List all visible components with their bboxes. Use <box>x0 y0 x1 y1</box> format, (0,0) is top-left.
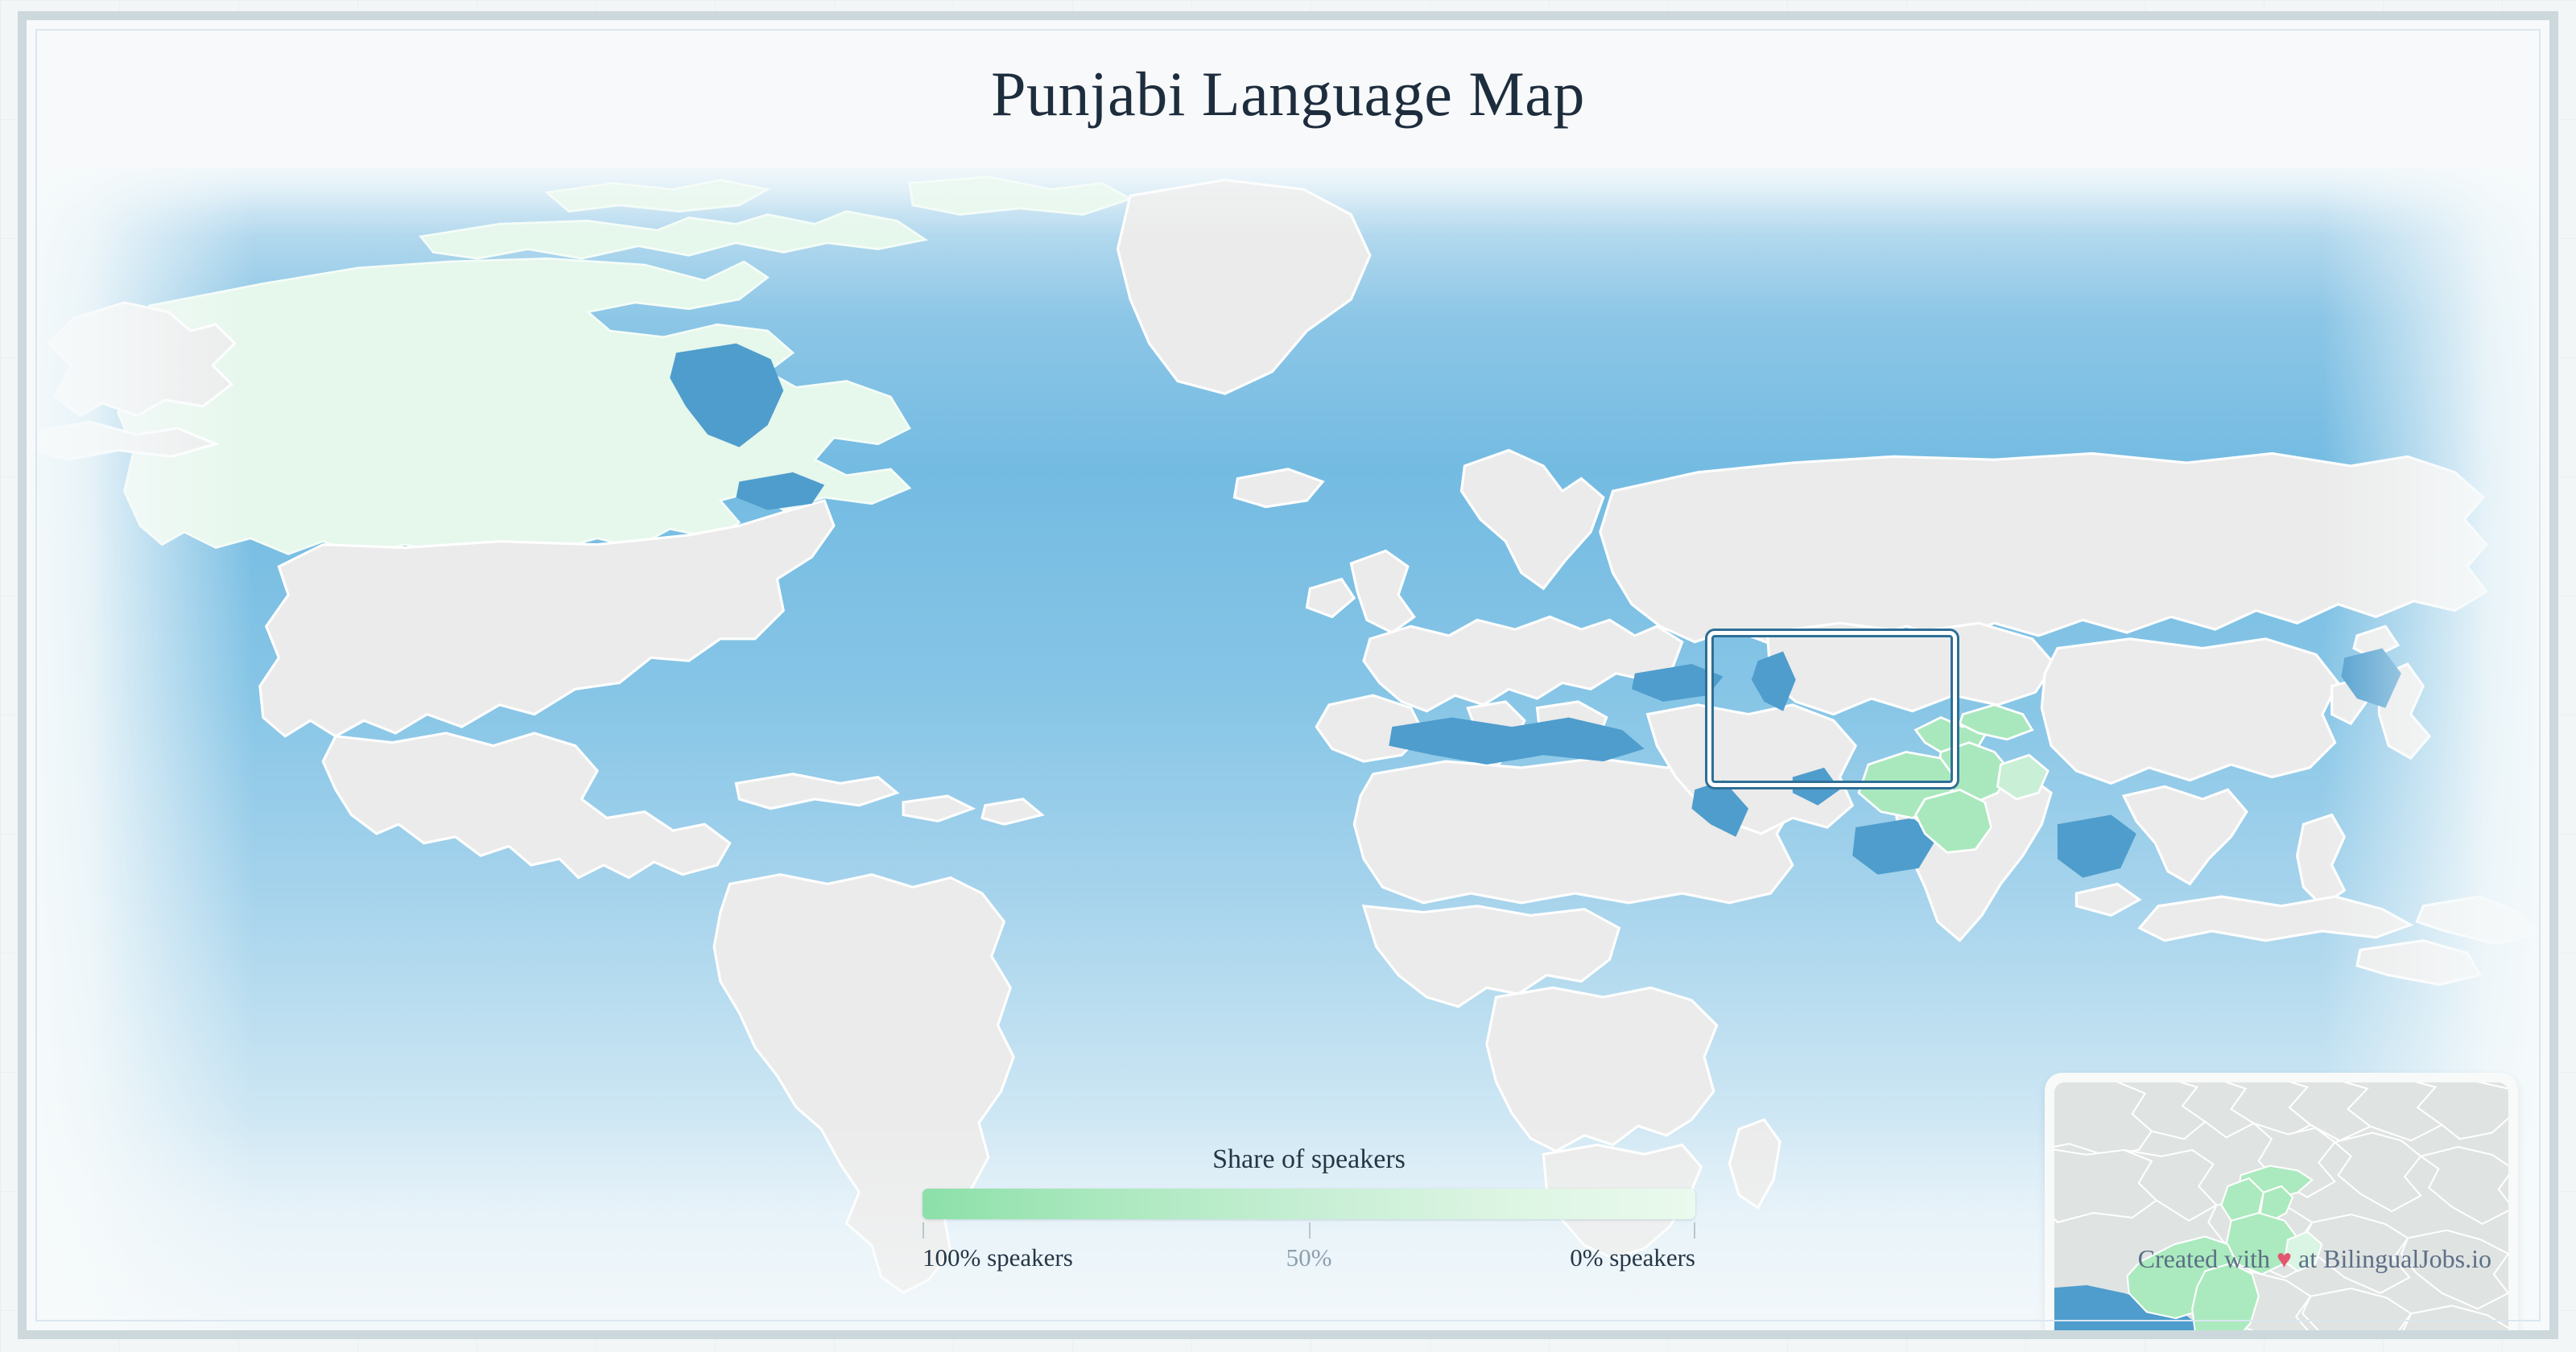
inset-map-svg <box>2054 1082 2508 1330</box>
heart-icon: ♥ <box>2277 1244 2292 1273</box>
region-southeast-asia <box>2124 786 2247 884</box>
zoom-region-rectangle[interactable] <box>1707 631 1957 787</box>
region-china <box>2041 639 2338 784</box>
legend-label-min: 0% speakers <box>1570 1243 1695 1272</box>
region-british-isles <box>1307 550 1414 633</box>
legend-label-mid: 50% <box>1286 1243 1332 1272</box>
region-greenland <box>1117 180 1369 394</box>
region-philippines <box>2297 815 2345 906</box>
legend-labels: 100% speakers 50% 0% speakers <box>923 1243 1695 1277</box>
region-west-africa <box>1364 906 1619 1007</box>
legend: Share of speakers 100% speakers 50% 0% s… <box>923 1144 1695 1277</box>
region-russia-siberia <box>1600 453 2487 645</box>
inset-viewport <box>2054 1082 2508 1330</box>
legend-tick-100 <box>923 1222 924 1239</box>
region-mexico <box>323 733 729 878</box>
legend-tick-50 <box>1309 1222 1311 1239</box>
legend-label-max: 100% speakers <box>923 1243 1073 1272</box>
region-indonesia <box>2076 884 2479 984</box>
region-scandinavia <box>1461 450 1603 588</box>
region-arctic-islands <box>421 177 1130 259</box>
legend-ticks <box>923 1219 1695 1240</box>
legend-tick-0 <box>1694 1222 1695 1239</box>
world-map-canvas[interactable]: Share of speakers 100% speakers 50% 0% s… <box>27 167 2549 1330</box>
legend-gradient-bar <box>923 1189 1695 1219</box>
region-new-guinea <box>2417 897 2537 944</box>
credit-brand[interactable]: BilingualJobs.io <box>2323 1244 2491 1273</box>
map-page: Punjabi Language Map <box>0 0 2576 1352</box>
region-madagascar <box>1729 1119 1780 1207</box>
region-caribbean <box>736 774 1042 824</box>
region-central-africa <box>1487 987 1717 1151</box>
header-band: Punjabi Language Map <box>27 20 2549 167</box>
legend-title: Share of speakers <box>923 1144 1695 1175</box>
page-title: Punjabi Language Map <box>991 63 1585 126</box>
detail-inset-panel[interactable] <box>2045 1073 2518 1330</box>
credit-prefix: Created with <box>2138 1244 2270 1273</box>
credit-line: Created with ♥ at BilingualJobs.io <box>2138 1244 2491 1274</box>
sea-bay-of-bengal <box>2058 815 2136 878</box>
region-iceland <box>1234 469 1323 507</box>
region-europe-west <box>1364 616 1682 711</box>
credit-middle: at <box>2298 1244 2317 1273</box>
